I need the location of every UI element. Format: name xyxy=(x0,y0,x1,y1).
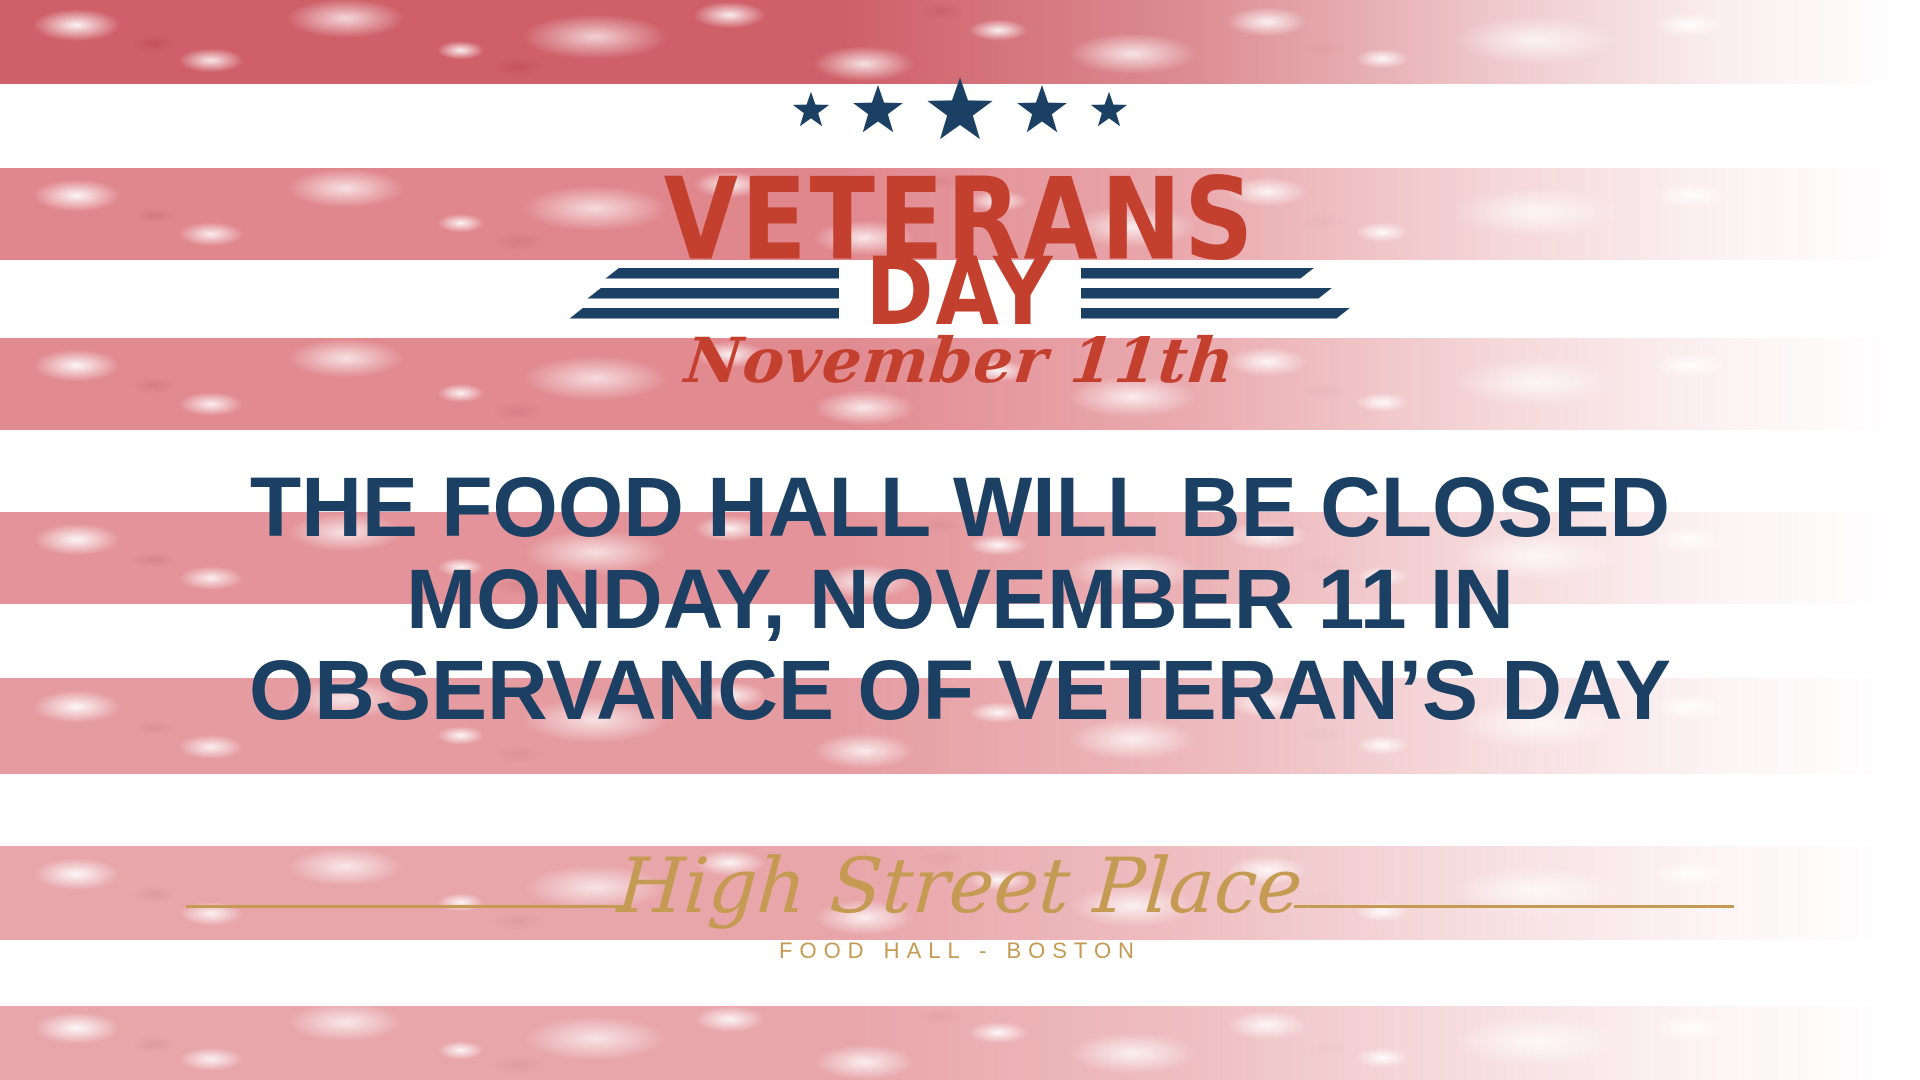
star-icon xyxy=(1090,91,1128,129)
stripe-bar xyxy=(605,268,839,279)
star-icon xyxy=(1016,84,1068,136)
headline-line-2: MONDAY, NOVEMBER 11 IN xyxy=(0,554,1920,646)
stripe-bar xyxy=(1081,268,1315,279)
emblem-title-line2-row: DAY xyxy=(0,252,1920,334)
divider-rule-left xyxy=(186,905,626,908)
stripe-bars-left xyxy=(567,268,839,319)
star-icon xyxy=(852,84,904,136)
logo-block: High Street Place FOOD HALL - BOSTON xyxy=(0,848,1920,964)
headline-line-3: OBSERVANCE OF VETERAN’S DAY xyxy=(0,645,1920,737)
announcement-graphic: VETERANS DAY November 11th THE FOOD HALL… xyxy=(0,0,1920,1080)
stripe-bar xyxy=(587,288,839,299)
brand-logo: High Street Place FOOD HALL - BOSTON xyxy=(592,848,1328,964)
divider-rule-right xyxy=(1294,905,1734,908)
stripe-bar xyxy=(1081,308,1351,319)
stripe-bar xyxy=(569,308,839,319)
star-icon xyxy=(926,76,994,144)
stars-row xyxy=(0,76,1920,144)
headline-line-1: THE FOOD HALL WILL BE CLOSED xyxy=(0,462,1920,554)
brand-tagline: FOOD HALL - BOSTON xyxy=(618,938,1302,964)
stripe-bars-right xyxy=(1081,268,1353,319)
brand-name: High Street Place xyxy=(615,848,1305,924)
emblem-date-script: November 11th xyxy=(0,330,1920,392)
star-icon xyxy=(792,91,830,129)
headline-block: THE FOOD HALL WILL BE CLOSED MONDAY, NOV… xyxy=(0,462,1920,737)
stripe-bar xyxy=(1081,288,1333,299)
